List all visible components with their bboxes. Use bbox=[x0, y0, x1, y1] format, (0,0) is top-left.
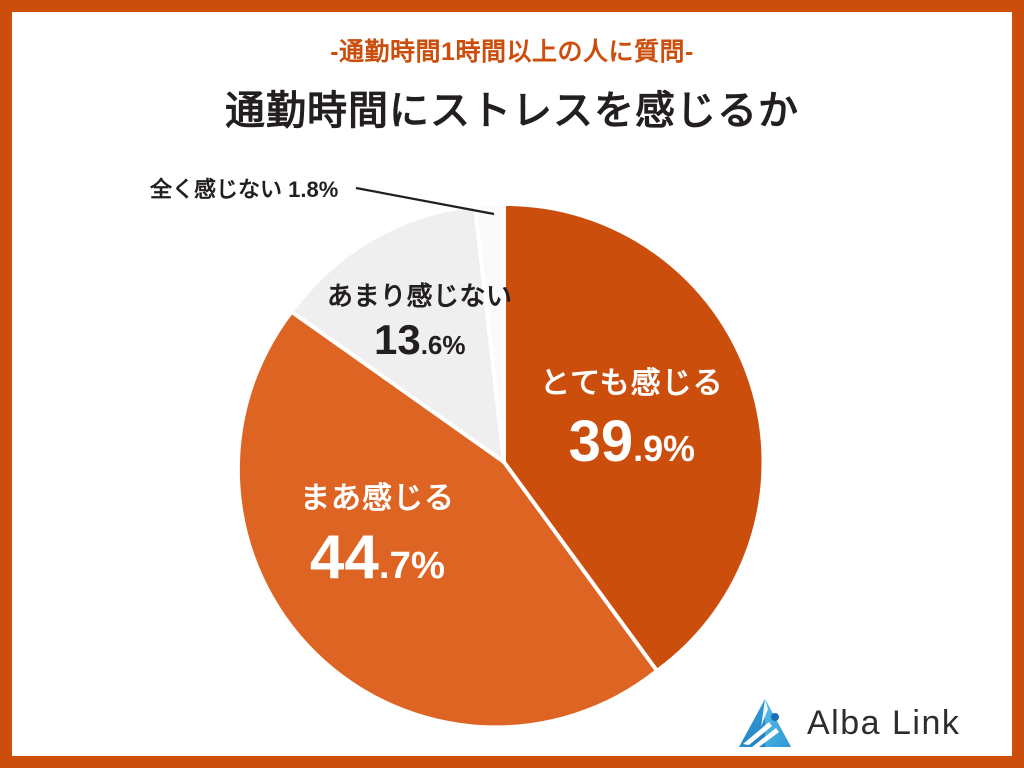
pie-label-totemo-value-dec: .9% bbox=[633, 428, 695, 469]
pie-chart-svg bbox=[0, 0, 1024, 768]
pie-label-maa: まあ感じる 44.7% bbox=[300, 483, 455, 590]
pie-label-amari-value-dec: .6% bbox=[421, 330, 466, 360]
pie-label-totemo-name: とても感じる bbox=[540, 368, 724, 400]
alba-link-logo: Alba Link bbox=[735, 697, 960, 749]
alba-link-triangle-icon bbox=[735, 697, 793, 749]
frame-border-bottom bbox=[0, 756, 1024, 768]
pie-label-maa-value-int: 44 bbox=[310, 523, 379, 592]
pie-label-totemo-value-int: 39 bbox=[569, 409, 634, 474]
chart-page: -通勤時間1時間以上の人に質問- 通勤時間にストレスを感じるか bbox=[0, 0, 1024, 768]
leader-line-mattaku bbox=[356, 188, 494, 214]
pie-label-amari-value-int: 13 bbox=[374, 316, 421, 363]
pie-label-maa-value-dec: .7% bbox=[379, 544, 445, 587]
pie-label-totemo: とても感じる 39.9% bbox=[540, 368, 724, 472]
pie-label-maa-name: まあ感じる bbox=[300, 483, 455, 515]
pie-label-totemo-value: 39.9% bbox=[540, 412, 724, 473]
alba-link-logo-text: Alba Link bbox=[807, 704, 960, 743]
pie-label-mattaku: 全く感じない 1.8% bbox=[150, 172, 338, 204]
pie-label-amari: あまり感じない 13.6% bbox=[327, 283, 513, 362]
pie-label-amari-value: 13.6% bbox=[327, 318, 513, 362]
frame-border-left bbox=[0, 0, 12, 768]
frame-border-right bbox=[1012, 0, 1024, 768]
frame-border-top bbox=[0, 0, 1024, 12]
pie-label-maa-value: 44.7% bbox=[300, 525, 455, 590]
pie-chart bbox=[0, 0, 1024, 768]
pie-label-amari-name: あまり感じない bbox=[327, 283, 513, 310]
